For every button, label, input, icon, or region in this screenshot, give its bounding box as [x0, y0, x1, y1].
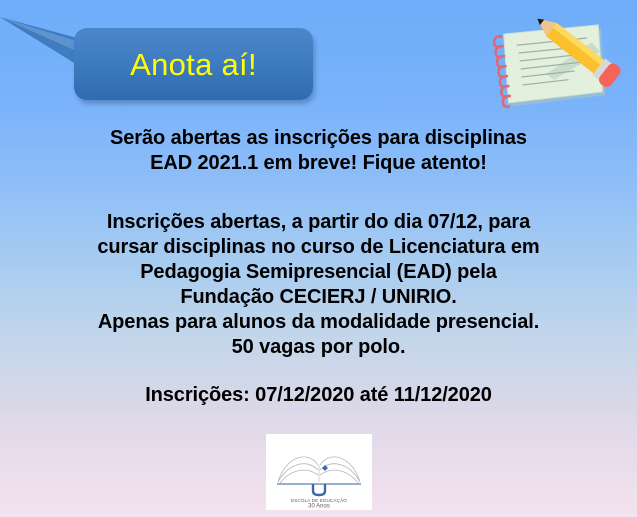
- escola-de-educacao-logo: ESCOLA DE EDUCAÇÃO 30 Anos: [266, 434, 372, 510]
- speech-bubble-body: Anota aí!: [74, 28, 313, 100]
- text-line: Apenas para alunos da modalidade presenc…: [0, 310, 637, 335]
- logo-line-1: ESCOLA DE EDUCAÇÃO: [291, 497, 347, 503]
- text-line: Inscrições abertas, a partir do dia 07/1…: [0, 210, 637, 235]
- text-line: Pedagogia Semipresencial (EAD) pela: [0, 260, 637, 285]
- text-line: Fundação CECIERJ / UNIRIO.: [0, 285, 637, 310]
- announcement-paragraph-2: Inscrições abertas, a partir do dia 07/1…: [0, 210, 637, 360]
- text-line: Serão abertas as inscrições para discipl…: [0, 126, 637, 151]
- text-line: EAD 2021.1 em breve! Fique atento!: [0, 151, 637, 176]
- text-line: cursar disciplinas no curso de Licenciat…: [0, 235, 637, 260]
- enrollment-dates: Inscrições: 07/12/2020 até 11/12/2020: [0, 383, 637, 408]
- logo-card: ESCOLA DE EDUCAÇÃO 30 Anos: [266, 434, 372, 510]
- poster-canvas: Anota aí!: [0, 0, 637, 517]
- text-line: 50 vagas por polo.: [0, 335, 637, 360]
- text-line: Inscrições: 07/12/2020 até 11/12/2020: [0, 383, 637, 408]
- announcement-paragraph-1: Serão abertas as inscrições para discipl…: [0, 126, 637, 176]
- logo-line-2: 30 Anos: [308, 504, 330, 510]
- speech-bubble-label: Anota aí!: [130, 49, 257, 80]
- speech-bubble: Anota aí!: [0, 12, 330, 112]
- notepad-pencil-icon: [480, 2, 635, 122]
